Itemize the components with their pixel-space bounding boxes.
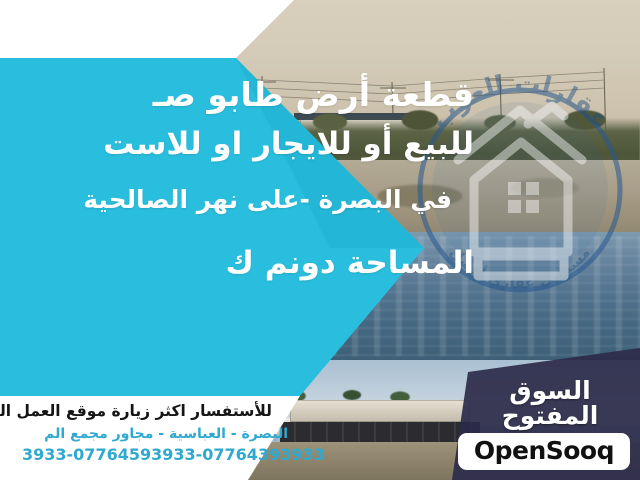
opensooq-arabic-wordmark: السوق المفتوح bbox=[470, 378, 630, 428]
top-white-band bbox=[0, 0, 294, 58]
opensooq-logo: السوق المفتوح OpenSooq bbox=[470, 378, 630, 462]
opensooq-latin-badge: OpenSooq bbox=[458, 433, 630, 470]
footer-white-bar bbox=[0, 396, 300, 480]
listing-image-canvas: عقارات العرب مستقبل عقاري أفضل قطعة أرض bbox=[0, 0, 640, 480]
